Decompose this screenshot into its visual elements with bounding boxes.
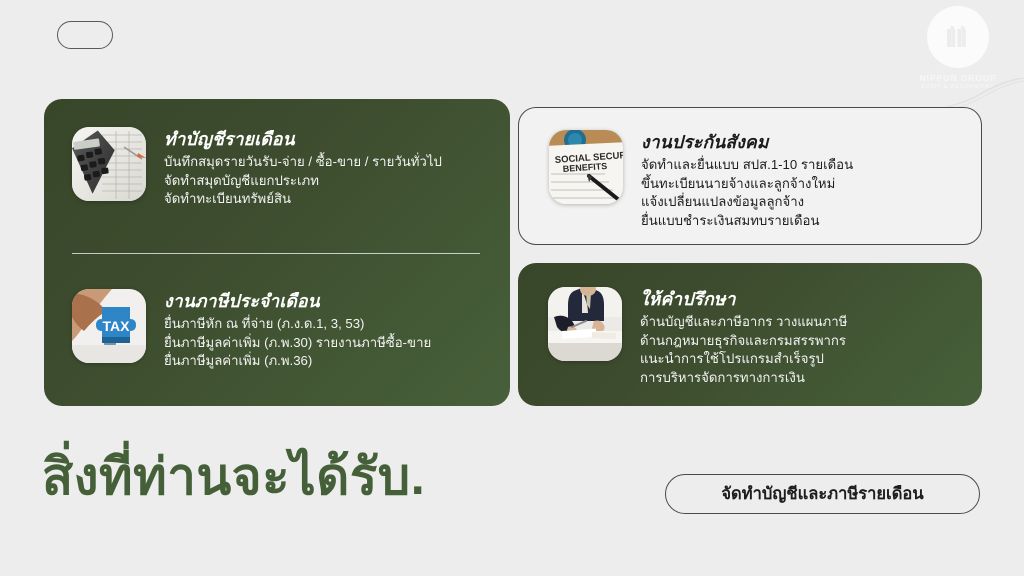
card-title: ทำบัญชีรายเดือน xyxy=(164,129,442,151)
cta-monthly-accounting-tax-button[interactable]: จัดทำบัญชีและภาษีรายเดือน xyxy=(665,474,980,514)
card-line: การบริหารจัดการทางการเงิน xyxy=(640,369,847,388)
card-line: จัดทำสมุดบัญชีแยกประเภท xyxy=(164,172,442,191)
brand-logo: NIPPON GROUP AUDIT & ACCOUNTING xyxy=(910,6,1006,102)
social-security-form-icon: SOCIAL SECURITY BENEFITS xyxy=(549,130,623,204)
slide-canvas: NIPPON GROUP AUDIT & ACCOUNTING xyxy=(0,0,1024,576)
card-social-security[interactable]: SOCIAL SECURITY BENEFITS งานประกันสังคม … xyxy=(518,107,982,245)
card-title: งานประกันสังคม xyxy=(641,132,853,154)
card-line: แนะนำการใช้โปรแกรมสำเร็จรูป xyxy=(640,350,847,369)
card-line: ด้านกฎหมายธุรกิจและกรมสรรพากร xyxy=(640,332,847,351)
card-line: ด้านบัญชีและภาษีอากร วางแผนภาษี xyxy=(640,313,847,332)
card-divider xyxy=(72,253,480,254)
card-line: ขึ้นทะเบียนนายจ้างและลูกจ้างใหม่ xyxy=(641,175,853,194)
card-text-tax: งานภาษีประจำเดือน ยื่นภาษีหัก ณ ที่จ่าย … xyxy=(164,289,431,371)
card-line: ยื่นภาษีหัก ณ ที่จ่าย (ภ.ง.ด.1, 3, 53) xyxy=(164,315,431,334)
card-consulting[interactable]: ให้คำปรึกษา ด้านบัญชีและภาษีอากร วางแผนภ… xyxy=(518,263,982,406)
business-consulting-icon xyxy=(548,287,622,361)
card-block-consult: ให้คำปรึกษา ด้านบัญชีและภาษีอากร วางแผนภ… xyxy=(548,287,847,388)
card-line: ยื่นภาษีมูลค่าเพิ่ม (ภ.พ.36) xyxy=(164,352,431,371)
svg-text:TAX: TAX xyxy=(103,318,131,334)
card-line: จัดทำและยื่นแบบ สปส.1-10 รายเดือน xyxy=(641,156,853,175)
card-title: งานภาษีประจำเดือน xyxy=(164,291,431,313)
card-block-accounting: ทำบัญชีรายเดือน บันทึกสมุดรายวันรับ-จ่าย… xyxy=(72,127,442,209)
card-title: ให้คำปรึกษา xyxy=(640,289,847,311)
card-line: บันทึกสมุดรายวันรับ-จ่าย / ซื้อ-ขาย / รา… xyxy=(164,153,442,172)
card-text-social: งานประกันสังคม จัดทำและยื่นแบบ สปส.1-10 … xyxy=(641,130,853,231)
page-headline: สิ่งที่ท่านจะได้รับ. xyxy=(42,449,425,505)
card-block-social: SOCIAL SECURITY BENEFITS งานประกันสังคม … xyxy=(549,130,853,231)
brand-name: NIPPON GROUP xyxy=(920,73,997,83)
card-line: ยื่นแบบชำระเงินสมทบรายเดือน xyxy=(641,212,853,231)
card-text-consult: ให้คำปรึกษา ด้านบัญชีและภาษีอากร วางแผนภ… xyxy=(640,287,847,388)
brand-tagline: AUDIT & ACCOUNTING xyxy=(921,84,996,90)
calculator-ledger-icon xyxy=(72,127,146,201)
logo-circle xyxy=(927,6,989,68)
card-line: แจ้งเปลี่ยนแปลงข้อมูลลูกจ้าง xyxy=(641,193,853,212)
card-block-tax: TAX งานภาษีประจำเดือน ยื่นภาษีหัก ณ ที่จ… xyxy=(72,289,431,371)
card-line: จัดทำทะเบียนทรัพย์สิน xyxy=(164,190,442,209)
nippon-building-mark-icon xyxy=(941,20,975,54)
card-line: ยื่นภาษีมูลค่าเพิ่ม (ภ.พ.30) รายงานภาษีซ… xyxy=(164,334,431,353)
card-text-accounting: ทำบัญชีรายเดือน บันทึกสมุดรายวันรับ-จ่าย… xyxy=(164,127,442,209)
top-left-decorative-pill xyxy=(57,21,113,49)
tax-puzzle-piece-icon: TAX xyxy=(72,289,146,363)
card-accounting-and-tax[interactable]: ทำบัญชีรายเดือน บันทึกสมุดรายวันรับ-จ่าย… xyxy=(44,99,510,406)
